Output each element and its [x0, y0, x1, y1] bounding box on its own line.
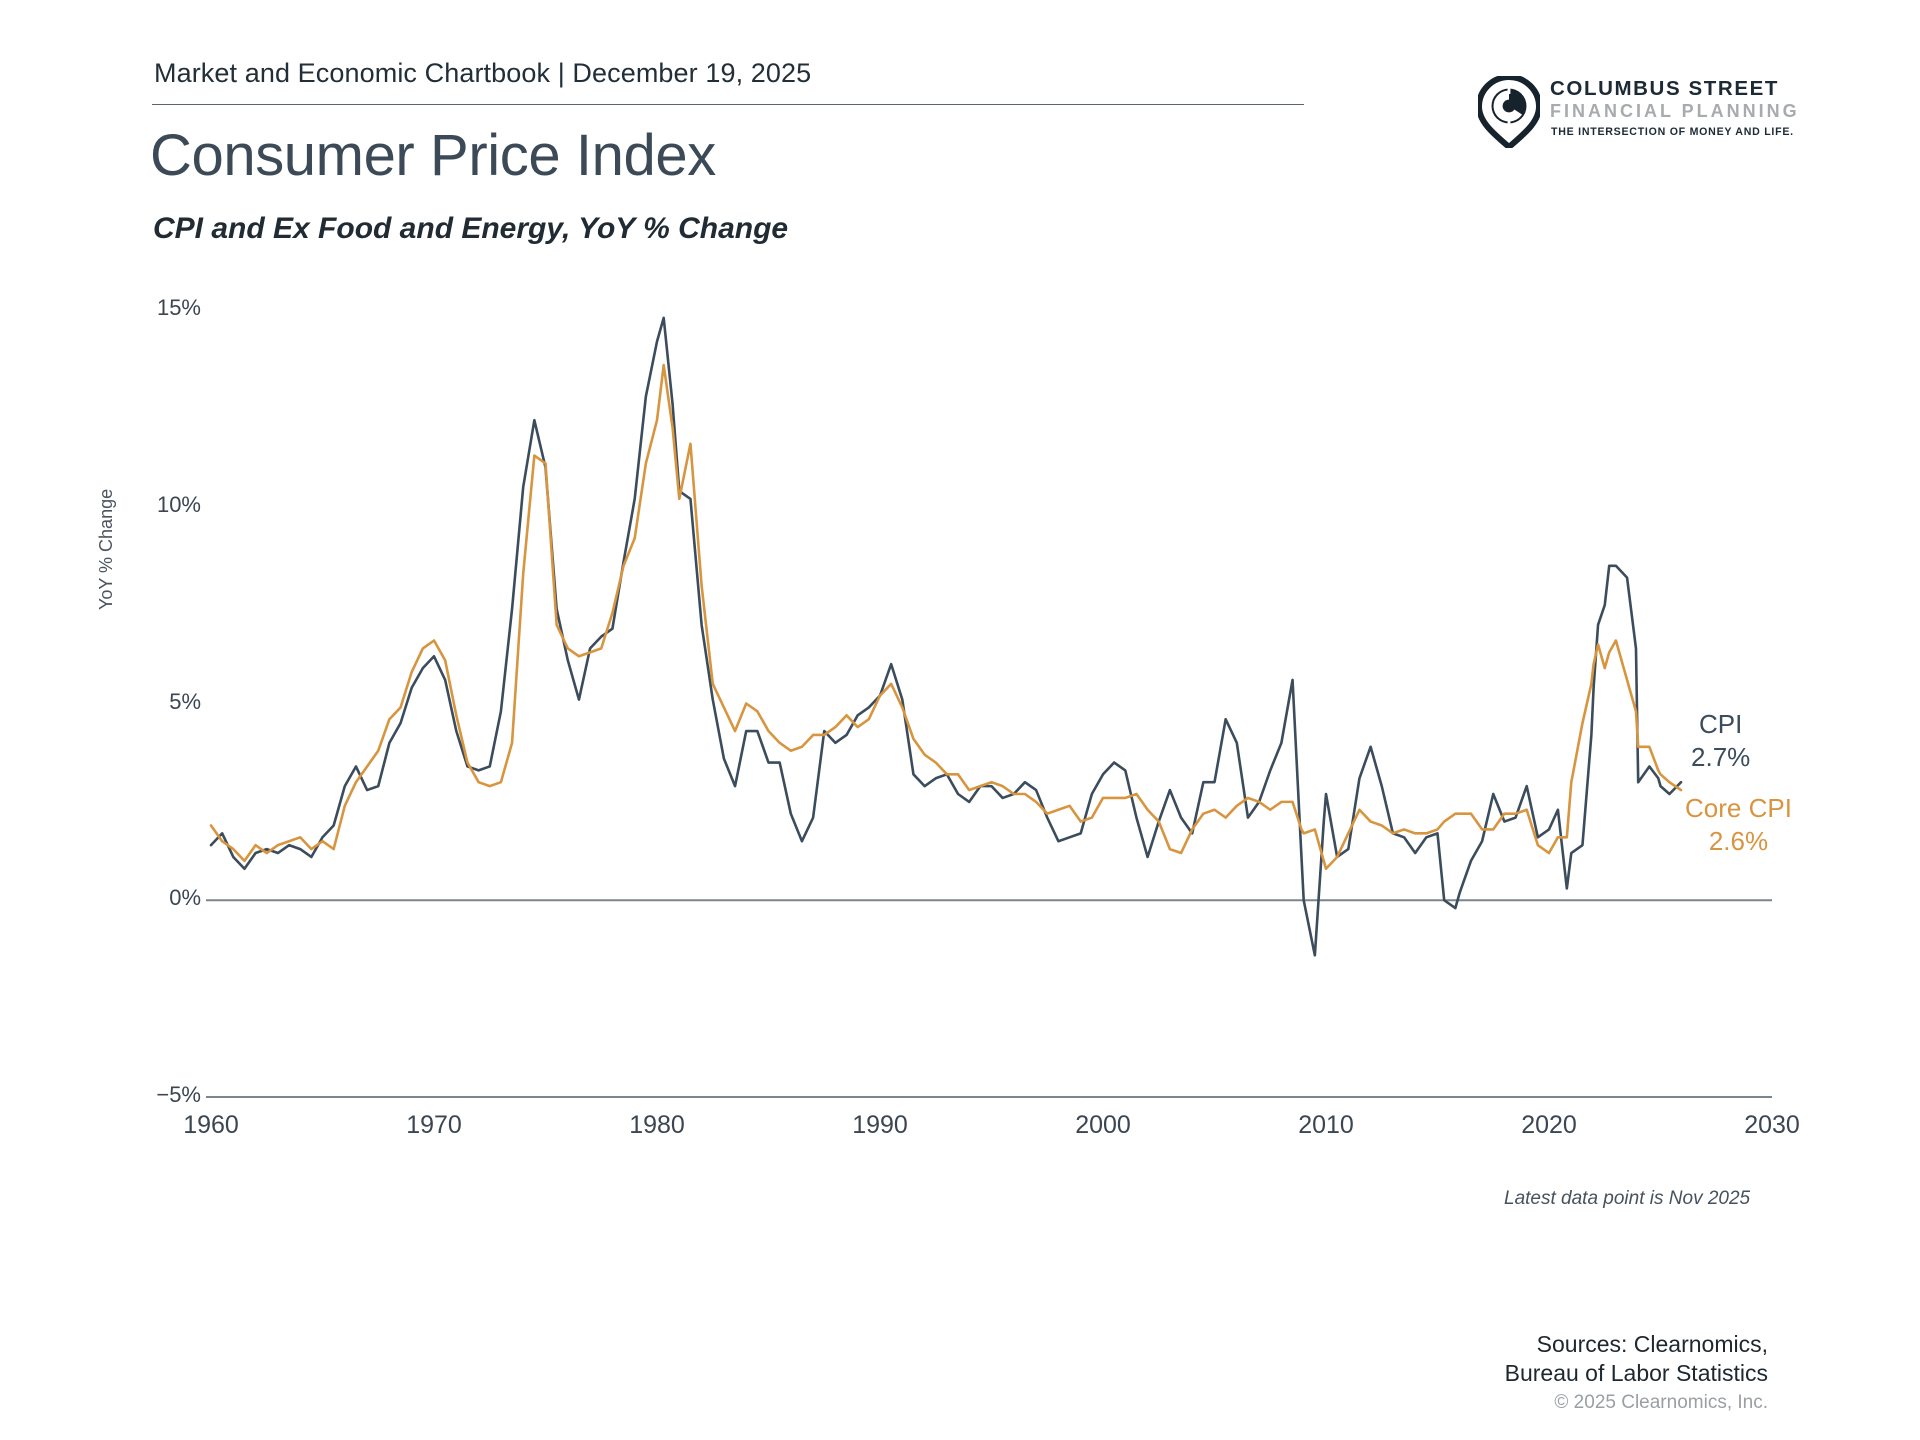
series-label-cpi-value: 2.7% [1691, 741, 1750, 774]
x-tick-2010: 2010 [1256, 1111, 1396, 1140]
sources-block: Sources: Clearnomics, Bureau of Labor St… [1505, 1330, 1768, 1389]
series-label-core-cpi-value: 2.6% [1685, 825, 1792, 858]
sources-line-1: Sources: Clearnomics, [1505, 1330, 1768, 1359]
y-tick-neg5: −5% [111, 1082, 201, 1108]
latest-data-point-note: Latest data point is Nov 2025 [1504, 1188, 1750, 1210]
y-tick-0: 0% [111, 885, 201, 911]
series-label-core-cpi: Core CPI 2.6% [1685, 792, 1792, 859]
sources-line-2: Bureau of Labor Statistics [1505, 1359, 1768, 1388]
chart-plot-svg [0, 0, 1920, 1440]
x-tick-2030: 2030 [1702, 1111, 1842, 1140]
series-label-cpi: CPI 2.7% [1691, 708, 1750, 775]
y-tick-10: 10% [111, 492, 201, 518]
x-tick-2000: 2000 [1033, 1111, 1173, 1140]
x-tick-1970: 1970 [364, 1111, 504, 1140]
y-tick-15: 15% [111, 295, 201, 321]
x-tick-2020: 2020 [1479, 1111, 1619, 1140]
cpi-line-chart: YoY % Change −5%0%5%10%15% 1960197019801… [0, 0, 1920, 1440]
copyright-notice: © 2025 Clearnomics, Inc. [1554, 1392, 1768, 1414]
x-tick-1980: 1980 [587, 1111, 727, 1140]
y-tick-5: 5% [111, 689, 201, 715]
series-label-cpi-name: CPI [1691, 708, 1750, 741]
x-tick-1960: 1960 [141, 1111, 281, 1140]
series-label-core-cpi-name: Core CPI [1685, 792, 1792, 825]
x-tick-1990: 1990 [810, 1111, 950, 1140]
